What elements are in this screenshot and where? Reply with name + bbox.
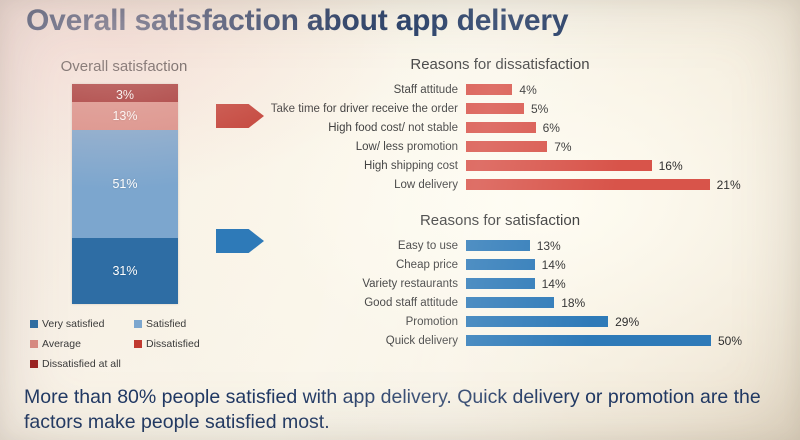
bar-row-label: Staff attitude [258,84,466,96]
satisfaction-title: Reasons for satisfaction [258,212,800,229]
bar-row[interactable]: Variety restaurants14% [258,274,800,293]
bar-row-value: 18% [561,296,585,310]
legend-item-label: Dissatisfied at all [42,358,121,370]
legend-swatch-icon [134,320,142,328]
bar-row-label: Take time for driver receive the order [258,103,466,115]
satisfaction-chart: Reasons for satisfaction Easy to use13%C… [258,212,800,350]
stacked-bar-segment: 51% [72,130,178,238]
bar-fill [466,316,608,327]
stacked-bar-segment-value: 13% [112,109,137,123]
arrow-to-satisfaction-icon [216,229,264,253]
legend-item[interactable]: Satisfied [134,318,242,330]
bar-track: 16% [466,156,800,175]
bar-fill [466,259,535,270]
legend-item-label: Average [42,338,81,350]
bar-row-label: Low delivery [258,179,466,191]
legend-item-label: Dissatisfied [146,338,200,350]
bar-row-value: 4% [519,83,536,97]
bar-row[interactable]: Easy to use13% [258,236,800,255]
bar-track: 18% [466,293,800,312]
legend-swatch-icon [30,340,38,348]
bar-track: 21% [466,175,800,194]
bar-row[interactable]: Promotion29% [258,312,800,331]
bar-row[interactable]: High shipping cost16% [258,156,800,175]
bar-row-label: Promotion [258,316,466,328]
stacked-bar-segment-value: 3% [116,88,134,102]
bar-row-label: Quick delivery [258,335,466,347]
bar-row-value: 14% [542,258,566,272]
bar-fill [466,160,652,171]
bar-row[interactable]: Staff attitude4% [258,80,800,99]
stacked-bar-segment: 31% [72,238,178,304]
dissatisfaction-title: Reasons for dissatisfaction [258,56,800,73]
bar-fill [466,179,710,190]
bar-fill [466,240,530,251]
bar-fill [466,141,547,152]
bar-row-value: 7% [554,140,571,154]
bar-fill [466,335,711,346]
bar-row-value: 16% [659,159,683,173]
bar-row-label: Low/ less promotion [258,141,466,153]
bar-row[interactable]: High food cost/ not stable6% [258,118,800,137]
bar-row[interactable]: Take time for driver receive the order5% [258,99,800,118]
bar-row-value: 29% [615,315,639,329]
slide: Overall satisfaction about app delivery … [0,0,800,440]
bar-track: 14% [466,255,800,274]
bar-row-label: Variety restaurants [258,278,466,290]
bar-row[interactable]: Low delivery21% [258,175,800,194]
bar-row-label: Easy to use [258,240,466,252]
overall-satisfaction-chart: Overall satisfaction 3%13%51%31% Very sa… [0,58,248,370]
dissatisfaction-chart: Reasons for dissatisfaction Staff attitu… [258,56,800,194]
bar-row-label: Cheap price [258,259,466,271]
stacked-bar-segment-value: 31% [112,264,137,278]
bar-fill [466,278,535,289]
bar-fill [466,103,524,114]
legend-item[interactable]: Very satisfied [30,318,134,330]
bar-row-value: 13% [537,239,561,253]
satisfaction-bar-list: Easy to use13%Cheap price14%Variety rest… [258,236,800,350]
bar-track: 50% [466,331,800,350]
bar-row-label: Good staff attitude [258,297,466,309]
stacked-bar-segment: 3% [72,88,178,102]
bar-row[interactable]: Good staff attitude18% [258,293,800,312]
legend-swatch-icon [30,360,38,368]
dissatisfaction-bar-list: Staff attitude4%Take time for driver rec… [258,80,800,194]
legend-item-label: Satisfied [146,318,186,330]
bar-track: 5% [466,99,800,118]
arrow-to-dissatisfaction-icon [216,104,264,128]
bar-row-label: High shipping cost [258,160,466,172]
bar-row-value: 50% [718,334,742,348]
bar-track: 4% [466,80,800,99]
legend-item-label: Very satisfied [42,318,104,330]
legend-swatch-icon [30,320,38,328]
bar-fill [466,297,554,308]
stacked-bar-segment: 13% [72,102,178,130]
summary-caption: More than 80% people satisfied with app … [24,385,792,435]
bar-track: 7% [466,137,800,156]
bar-track: 6% [466,118,800,137]
bar-row-value: 6% [543,121,560,135]
bar-track: 29% [466,312,800,331]
page-title: Overall satisfaction about app delivery [26,4,568,38]
bar-row[interactable]: Cheap price14% [258,255,800,274]
legend-item[interactable]: Dissatisfied [134,338,242,350]
stacked-bar-legend: Very satisfiedSatisfiedAverageDissatisfi… [30,318,242,370]
bar-fill [466,84,512,95]
bar-row[interactable]: Quick delivery50% [258,331,800,350]
bar-track: 14% [466,274,800,293]
bar-row-label: High food cost/ not stable [258,122,466,134]
bar-row-value: 21% [717,178,741,192]
legend-item[interactable]: Average [30,338,134,350]
bar-row-value: 5% [531,102,548,116]
bar-row[interactable]: Low/ less promotion7% [258,137,800,156]
stacked-bar-segment-value: 51% [112,177,137,191]
overall-satisfaction-title: Overall satisfaction [0,58,248,75]
bar-track: 13% [466,236,800,255]
bar-row-value: 14% [542,277,566,291]
bar-fill [466,122,536,133]
stacked-bar: 3%13%51%31% [72,84,178,304]
legend-swatch-icon [134,340,142,348]
legend-item[interactable]: Dissatisfied at all [30,358,134,370]
